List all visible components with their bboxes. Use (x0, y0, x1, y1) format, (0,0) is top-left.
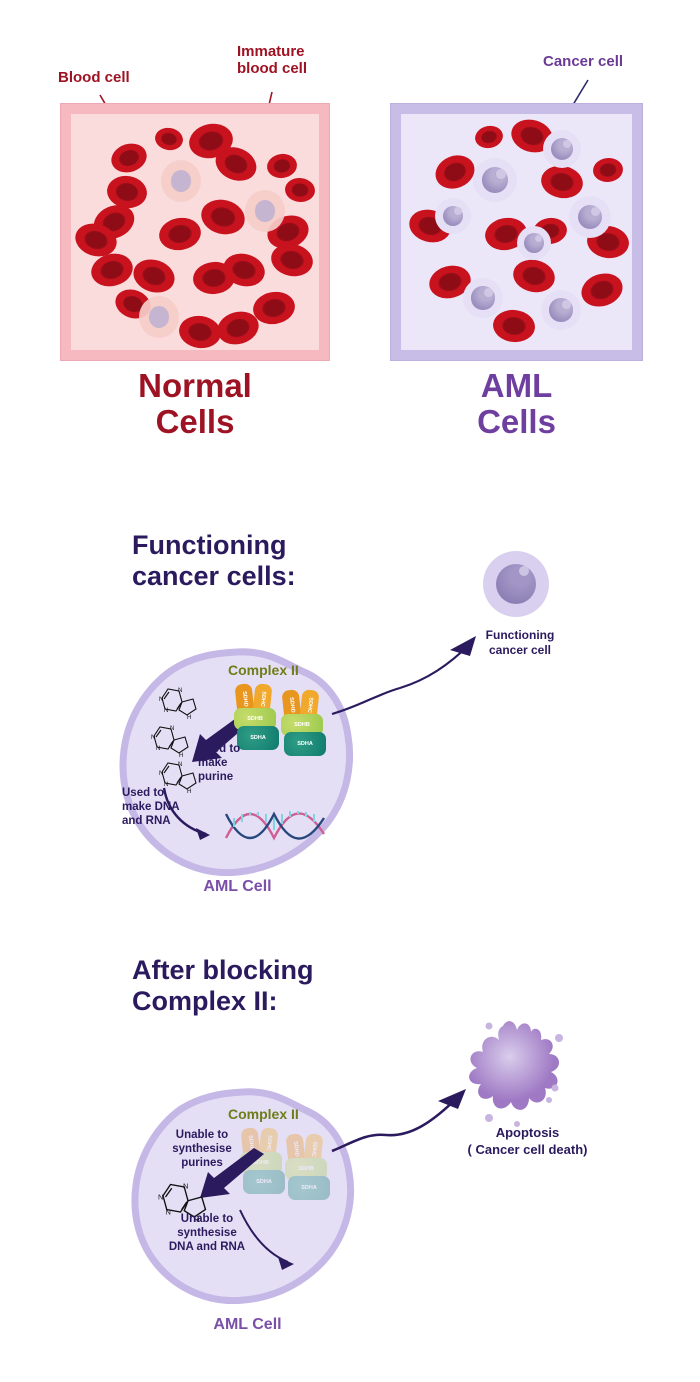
arrow-to-dna (158, 786, 238, 846)
subunit-sdha: SDHA (288, 1176, 330, 1200)
caption-apoptosis: Apoptosis ( Cancer cell death) (445, 1125, 610, 1159)
complex2-protein-icon-blocked: SDHD SDHC SDHB SDHA (240, 1128, 286, 1194)
note-line2: make DNA (122, 801, 180, 813)
purine-molecule-icon: N N N H (158, 760, 198, 794)
purine-molecule-icon: N N N H (158, 686, 198, 720)
note-line1: Unable to (181, 1213, 233, 1225)
svg-text:N: N (166, 1208, 171, 1217)
note-line2: synthesise (177, 1227, 236, 1239)
caption-normal-cells: Normal Cells (60, 368, 330, 439)
functioning-cancer-cell-icon (483, 551, 549, 617)
purine-molecule-icon: N N N H (150, 724, 190, 758)
subunit-sdhc: SDHC (252, 683, 272, 715)
complex2-protein-icon-blocked: SDHD SDHC SDHB SDHA (285, 1134, 331, 1200)
apoptosis-cell-icon (455, 1018, 575, 1130)
cancer-cell (541, 290, 581, 330)
arrow-complex-to-purine-blocked (196, 1148, 270, 1204)
svg-text:N: N (159, 697, 163, 703)
subunit-sdhd: SDHD (234, 683, 254, 715)
caption-normal-line1: Normal (138, 367, 252, 404)
cell-membrane (483, 551, 549, 617)
red-blood-cell (157, 215, 204, 254)
subunit-sdha: SDHA (243, 1170, 285, 1194)
red-blood-cell (108, 139, 151, 177)
caption-aml-cell-functioning: AML Cell (130, 878, 345, 896)
immature-blood-cell (245, 190, 285, 232)
normal-smear-inner (71, 114, 319, 350)
cell-highlight (454, 207, 462, 215)
svg-text:N: N (151, 735, 155, 741)
note-line3: purine (198, 771, 233, 783)
red-blood-cell (153, 126, 184, 153)
note-used-to-make-dna-rna: Used to make DNA and RNA (122, 786, 200, 828)
subunit-sdhc: SDHC (258, 1127, 278, 1159)
red-blood-cell (265, 152, 298, 180)
subunit-sdhc: SDHC (299, 689, 319, 721)
red-blood-cell (473, 123, 505, 150)
caption-normal-line2: Cells (156, 403, 235, 440)
svg-text:H: H (194, 1215, 199, 1224)
caption-line1: Functioning (486, 628, 555, 642)
note-line3: and RNA (122, 815, 171, 827)
cell-highlight (562, 300, 571, 309)
cancer-cell (435, 198, 471, 234)
svg-text:N: N (164, 782, 168, 788)
red-blood-cell (198, 195, 249, 239)
svg-text:N: N (183, 1181, 188, 1190)
caption-functioning-cancer-cell: Functioning cancer cell (460, 628, 580, 658)
cancer-cell (463, 278, 503, 318)
caption-line2: ( Cancer cell death) (468, 1142, 588, 1157)
arrow-to-functioning-cell (330, 630, 500, 720)
aml-cell-outline (118, 648, 356, 876)
subunit-sdha: SDHA (237, 726, 279, 750)
subunit-sdhd: SDHD (240, 1127, 260, 1159)
cell-highlight (563, 140, 571, 148)
complex2-label-functioning: Complex II (228, 662, 299, 678)
aml-smear-inner (401, 114, 632, 350)
note-line3: purines (181, 1157, 223, 1169)
immature-blood-cell (161, 160, 201, 202)
note-unable-to-synthesise-purines: Unable to synthesise purines (160, 1128, 244, 1170)
svg-text:N: N (164, 708, 168, 714)
subunit-sdhb: SDHB (281, 714, 323, 736)
subunit-sdha: SDHA (284, 732, 326, 756)
arrow-to-apoptosis (330, 1085, 490, 1165)
cell-highlight (496, 169, 506, 179)
aml-cells-smear (390, 103, 643, 361)
red-blood-cell (177, 313, 223, 350)
caption-line2: cancer cell (489, 643, 551, 657)
svg-text:N: N (156, 746, 160, 752)
red-blood-cell (539, 163, 586, 202)
subunit-sdhb: SDHB (285, 1158, 327, 1180)
red-blood-cell (510, 256, 558, 296)
subunit-sdhd: SDHD (285, 1133, 305, 1165)
subunit-sdhb: SDHB (240, 1152, 282, 1174)
arrow-complex-to-purine (186, 708, 266, 768)
subunit-sdhd: SDHD (281, 689, 301, 721)
cancer-cell (569, 196, 611, 238)
note-line1: Used to (122, 787, 164, 799)
aml-cell-outline (130, 1088, 356, 1304)
subunit-sdhc: SDHC (303, 1133, 323, 1165)
svg-text:H: H (179, 753, 183, 758)
caption-line1: Apoptosis (496, 1125, 560, 1140)
cell-highlight (519, 566, 530, 577)
note-line2: make (198, 757, 227, 769)
red-blood-cell (577, 268, 627, 311)
heading-functioning-line1: Functioning (132, 530, 286, 560)
heading-after-blocking: After blocking Complex II: (132, 955, 382, 1018)
arrow-no-dna (236, 1208, 308, 1274)
caption-aml-line2: Cells (477, 403, 556, 440)
cell-nucleus (496, 564, 537, 605)
red-blood-cell (491, 308, 536, 344)
svg-text:N: N (158, 1193, 163, 1202)
complex2-label-blocked: Complex II (228, 1106, 299, 1122)
blood-smear-panel: Blood cell Immature blood cell Cancer ce… (0, 0, 700, 460)
cell-highlight (484, 288, 493, 297)
note-unable-to-synthesise-dna-rna: Unable to synthesise DNA and RNA (158, 1212, 256, 1254)
purine-molecule-icon: N N N H (158, 1180, 208, 1224)
heading-functioning: Functioning cancer cells: (132, 530, 372, 593)
note-line1: Used to (198, 743, 240, 755)
heading-blocking-line1: After blocking (132, 955, 314, 985)
red-blood-cell (430, 150, 479, 195)
svg-text:N: N (159, 771, 163, 777)
heading-functioning-line2: cancer cells: (132, 561, 296, 591)
dna-helix-icon (224, 800, 336, 846)
complex2-protein-icon: SDHD SDHC SDHB SDHA (234, 684, 280, 750)
caption-aml-line1: AML (481, 367, 552, 404)
red-blood-cell (592, 156, 624, 183)
immature-blood-cell (139, 296, 179, 338)
note-line2: synthesise (172, 1143, 231, 1155)
svg-text:N: N (178, 688, 182, 694)
svg-text:H: H (187, 715, 191, 720)
caption-aml-cell-blocked: AML Cell (140, 1316, 355, 1334)
svg-text:H: H (187, 789, 191, 794)
caption-aml-cells: AML Cells (390, 368, 643, 439)
svg-text:N: N (178, 762, 182, 768)
note-line1: Unable to (176, 1129, 228, 1141)
complex2-protein-icon: SDHD SDHC SDHB SDHA (281, 690, 327, 756)
cancer-cell (543, 130, 581, 168)
note-line3: DNA and RNA (169, 1241, 245, 1253)
note-used-to-make-purine: Used to make purine (198, 742, 278, 784)
cancer-cell (473, 158, 517, 202)
svg-text:N: N (170, 726, 174, 732)
heading-blocking-line2: Complex II: (132, 986, 278, 1016)
cancer-cell (517, 226, 551, 260)
red-blood-cell (284, 176, 316, 203)
normal-cells-smear (60, 103, 330, 361)
cell-highlight (591, 207, 600, 216)
cell-highlight (535, 235, 542, 242)
subunit-sdhb: SDHB (234, 708, 276, 730)
